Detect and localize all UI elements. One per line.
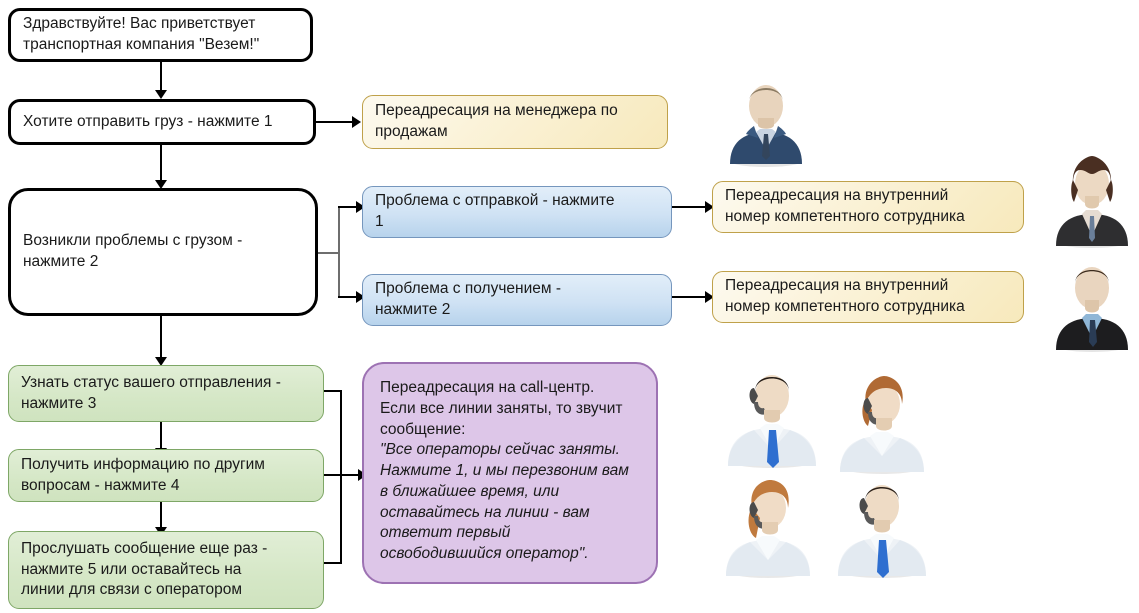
sales-manager-avatar — [718, 72, 814, 168]
connector-menu2-branch-stub — [316, 252, 340, 254]
operator-avatar-1 — [720, 358, 824, 470]
node-callcenter[interactable]: Переадресация на call-центр. Если все ли… — [362, 362, 658, 584]
operator-avatar-2 — [832, 368, 932, 476]
male-employee-avatar — [1046, 250, 1138, 354]
node-menu-2-text: Возникли проблемы с грузом - нажмите 2 — [23, 231, 242, 273]
callcenter-quote-6: освободившийся оператор". — [380, 544, 589, 565]
node-menu-3[interactable]: Узнать статус вашего отправления - нажми… — [8, 365, 324, 422]
connector-merge-vertical — [340, 390, 342, 564]
connector-menu1-to-menu2 — [160, 145, 162, 183]
node-forward-internal-1-text: Переадресация на внутренний номер компет… — [725, 186, 965, 228]
callcenter-quote-3: в ближайшее время, или — [380, 482, 559, 503]
node-menu-2[interactable]: Возникли проблемы с грузом - нажмите 2 — [8, 188, 318, 316]
ivr-flowchart-canvas: Здравствуйте! Вас приветствует транспорт… — [0, 0, 1139, 613]
connector-greeting-to-menu1 — [160, 60, 162, 92]
node-forward-internal-2-text: Переадресация на внутренний номер компет… — [725, 276, 965, 318]
node-sub-1-text: Проблема с отправкой - нажмите 1 — [375, 191, 615, 233]
node-forward-sales[interactable]: Переадресация на менеджера по продажам — [362, 95, 668, 149]
connector-menu4-to-menu5 — [160, 500, 162, 530]
arrowhead-menu1-to-sales — [352, 116, 361, 128]
connector-menu3-merge — [322, 390, 342, 392]
connector-menu2-to-menu3 — [160, 315, 162, 360]
callcenter-quote-2: Нажмите 1, и мы перезвоним вам — [380, 461, 629, 482]
callcenter-line-2: Если все линии заняты, то звучит — [380, 399, 623, 420]
node-menu-4[interactable]: Получить информацию по другим вопросам -… — [8, 449, 324, 502]
node-forward-internal-2[interactable]: Переадресация на внутренний номер компет… — [712, 271, 1024, 323]
node-menu-5[interactable]: Прослушать сообщение еще раз - нажмите 5… — [8, 531, 324, 609]
node-sub-2[interactable]: Проблема с получением - нажмите 2 — [362, 274, 672, 326]
callcenter-quote-5: ответит первый — [380, 523, 510, 544]
connector-menu2-branch-vertical — [338, 207, 340, 298]
node-menu-4-text: Получить информацию по другим вопросам -… — [21, 455, 265, 497]
callcenter-line-1: Переадресация на call-центр. — [380, 378, 594, 399]
female-employee-avatar — [1046, 146, 1138, 250]
node-menu-1[interactable]: Хотите отправить груз - нажмите 1 — [8, 99, 316, 145]
arrowhead-greeting-to-menu1 — [155, 90, 167, 99]
operator-avatar-4 — [830, 468, 934, 580]
operator-avatar-3 — [718, 468, 818, 580]
callcenter-line-3: сообщение: — [380, 420, 465, 441]
node-sub-1[interactable]: Проблема с отправкой - нажмите 1 — [362, 186, 672, 238]
node-greeting-text: Здравствуйте! Вас приветствует транспорт… — [23, 14, 259, 56]
node-menu-5-text: Прослушать сообщение еще раз - нажмите 5… — [21, 539, 267, 601]
connector-menu5-merge — [322, 562, 342, 564]
node-forward-internal-1[interactable]: Переадресация на внутренний номер компет… — [712, 181, 1024, 233]
node-sub-2-text: Проблема с получением - нажмите 2 — [375, 279, 561, 321]
node-greeting[interactable]: Здравствуйте! Вас приветствует транспорт… — [8, 8, 313, 62]
node-forward-sales-text: Переадресация на менеджера по продажам — [375, 101, 618, 143]
callcenter-quote-4: оставайтесь на линии - вам — [380, 503, 590, 524]
node-menu-3-text: Узнать статус вашего отправления - нажми… — [21, 373, 281, 415]
callcenter-quote-1: "Все операторы сейчас заняты. — [380, 440, 620, 461]
node-menu-1-text: Хотите отправить груз - нажмите 1 — [23, 112, 273, 133]
